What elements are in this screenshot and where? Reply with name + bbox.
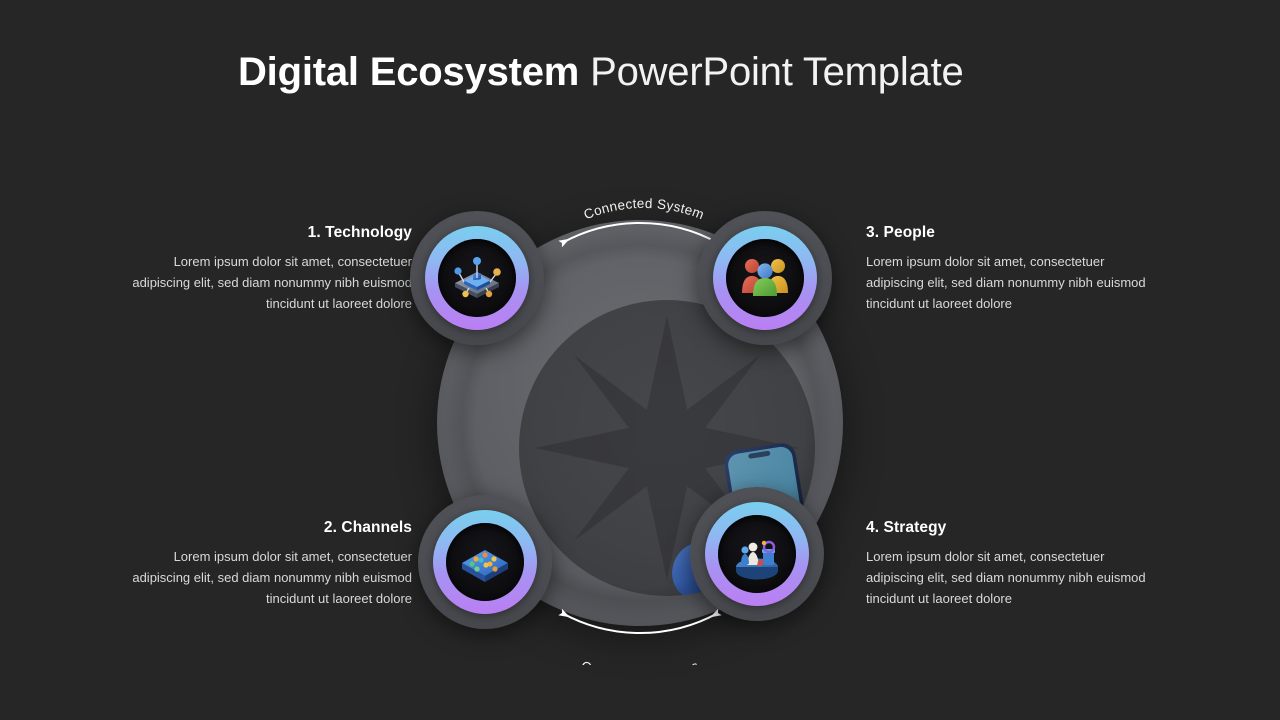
item-block-people: 3. People Lorem ipsum dolor sit amet, co… bbox=[866, 224, 1152, 314]
item-title-technology: 1. Technology bbox=[126, 224, 412, 242]
item-body-technology: Lorem ipsum dolor sit amet, consectetuer… bbox=[126, 251, 412, 314]
slide-canvas: Digital Ecosystem PowerPoint Template 1.… bbox=[0, 0, 1280, 720]
ecosystem-diagram: Digital Ecosystem bbox=[410, 195, 870, 665]
cpu-chip-icon bbox=[447, 248, 507, 308]
node-well-people bbox=[726, 239, 804, 317]
node-ring-technology bbox=[425, 226, 529, 330]
item-title-people: 3. People bbox=[866, 224, 1152, 242]
node-channels[interactable] bbox=[418, 495, 552, 629]
title-light-part: PowerPoint Template bbox=[579, 50, 963, 94]
people-group-icon bbox=[736, 249, 794, 307]
node-people[interactable] bbox=[698, 211, 832, 345]
item-body-strategy: Lorem ipsum dolor sit amet, consectetuer… bbox=[866, 546, 1152, 609]
bottom-connector-label: Connected Process bbox=[579, 658, 701, 665]
item-title-channels: 2. Channels bbox=[126, 519, 412, 537]
item-block-channels: 2. Channels Lorem ipsum dolor sit amet, … bbox=[126, 519, 412, 609]
node-ring-channels bbox=[433, 510, 537, 614]
node-well-technology bbox=[438, 239, 516, 317]
chess-strategy-icon bbox=[728, 525, 786, 583]
item-title-strategy: 4. Strategy bbox=[866, 519, 1152, 537]
item-body-channels: Lorem ipsum dolor sit amet, consectetuer… bbox=[126, 546, 412, 609]
node-technology[interactable] bbox=[410, 211, 544, 345]
node-ring-strategy bbox=[705, 502, 809, 606]
node-ring-people bbox=[713, 226, 817, 330]
node-strategy[interactable] bbox=[690, 487, 824, 621]
node-well-strategy bbox=[718, 515, 796, 593]
item-body-people: Lorem ipsum dolor sit amet, consectetuer… bbox=[866, 251, 1152, 314]
title-bold-part: Digital Ecosystem bbox=[238, 50, 579, 94]
top-connector-label: Connected System bbox=[582, 196, 707, 222]
item-block-technology: 1. Technology Lorem ipsum dolor sit amet… bbox=[126, 224, 412, 314]
app-grid-icon bbox=[456, 533, 514, 591]
page-title: Digital Ecosystem PowerPoint Template bbox=[238, 46, 964, 98]
node-well-channels bbox=[446, 523, 524, 601]
item-block-strategy: 4. Strategy Lorem ipsum dolor sit amet, … bbox=[866, 519, 1152, 609]
